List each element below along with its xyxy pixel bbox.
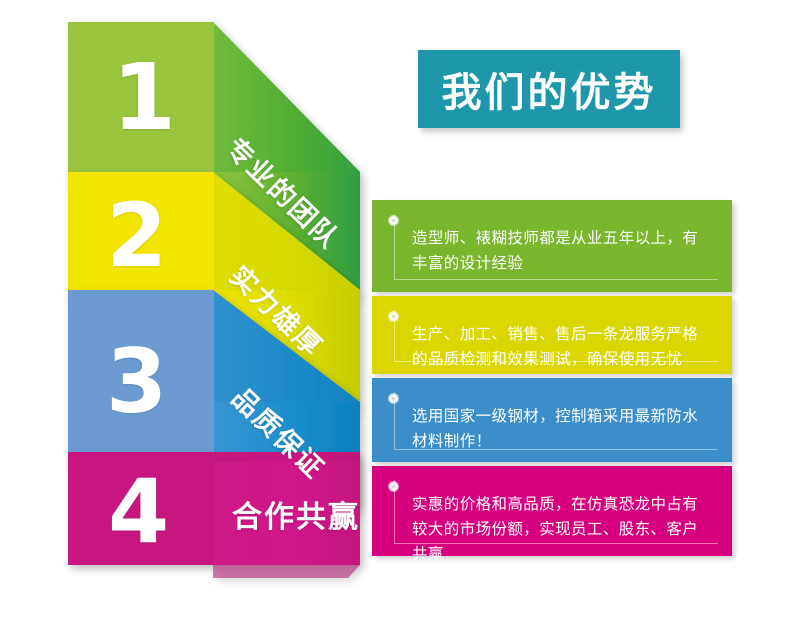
bullet-dot-icon [389,482,398,491]
title-banner: 我们的优势 [418,50,680,128]
step-number-2: 2 [106,192,167,280]
infographic-canvas: 我们的优势 1 2 3 4 专业的团队 实力雄厚 品质保证 合作共赢 造型师、裱… [0,0,800,622]
band-label-4: 合作共赢 [232,492,360,536]
content-box-2: 生产、加工、销售、售后一条龙服务严格的品质检测和效果测试，确保使用无忧 [372,296,732,374]
content-box-1: 造型师、裱糊技师都是从业五年以上，有丰富的设计经验 [372,200,732,292]
bullet-dot-icon [389,312,398,321]
step-number-3: 3 [106,338,167,426]
step-number-4: 4 [108,468,169,556]
bullet-dot-icon [389,216,398,225]
content-text-3: 选用国家一级钢材，控制箱采用最新防水材料制作！ [412,404,706,454]
content-box-3: 选用国家一级钢材，控制箱采用最新防水材料制作！ [372,378,732,462]
step-number-1: 1 [112,52,176,144]
title-text: 我们的优势 [442,60,657,118]
content-text-1: 造型师、裱糊技师都是从业五年以上，有丰富的设计经验 [412,226,706,276]
content-text-2: 生产、加工、销售、售后一条龙服务严格的品质检测和效果测试，确保使用无忧 [412,322,706,372]
bullet-dot-icon [389,394,398,403]
content-box-4: 实惠的价格和高品质，在仿真恐龙中占有较大的市场份额，实现员工、股东、客户共赢 [372,466,732,556]
content-text-4: 实惠的价格和高品质，在仿真恐龙中占有较大的市场份额，实现员工、股东、客户共赢 [412,492,706,567]
